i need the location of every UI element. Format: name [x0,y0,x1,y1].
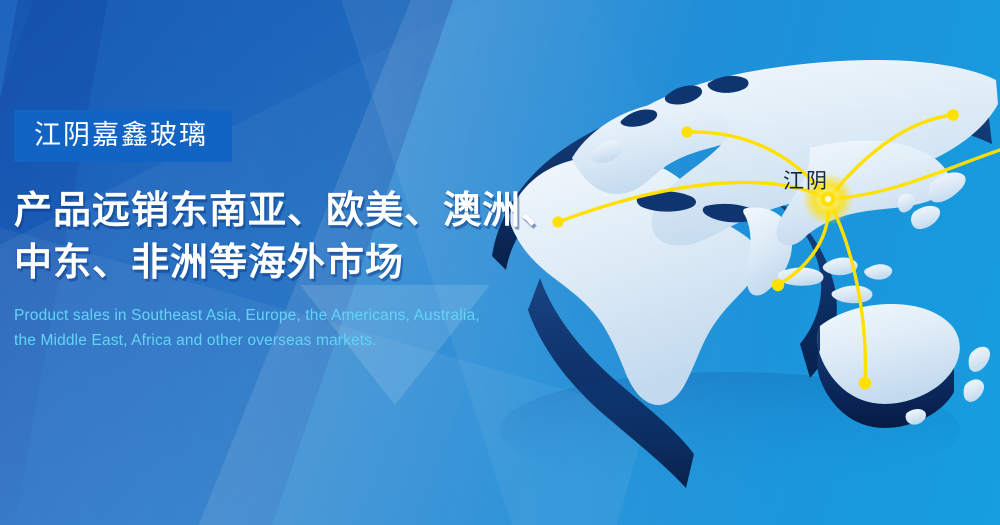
subtitle-line-2: the Middle East, Africa and other overse… [14,328,594,353]
page-title: 产品远销东南亚、欧美、澳洲、 中东、非洲等海外市场 [14,184,594,289]
page-subtitle: Product sales in Southeast Asia, Europe,… [14,303,594,353]
map-hub-label: 江阴 [783,165,829,195]
banner-copy: 江阴嘉鑫玻璃 产品远销东南亚、欧美、澳洲、 中东、非洲等海外市场 Product… [14,110,594,353]
brand-badge: 江阴嘉鑫玻璃 [14,110,232,162]
headline-line-1: 产品远销东南亚、欧美、澳洲、 [14,184,594,236]
headline-line-2: 中东、非洲等海外市场 [14,236,594,288]
promo-banner: 江阴 江阴嘉鑫玻璃 产品远销东南亚、欧美、澳洲、 中东、非洲等海外市场 Prod… [0,0,1000,525]
subtitle-line-1: Product sales in Southeast Asia, Europe,… [14,303,594,328]
